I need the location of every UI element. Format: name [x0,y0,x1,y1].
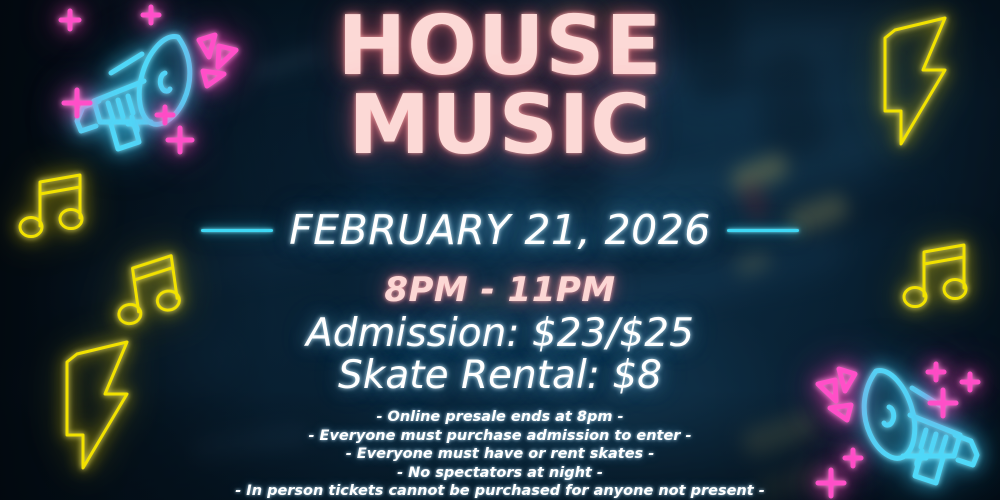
price-skate-rental: Skate Rental: $8 [0,355,1000,397]
price-admission: Admission: $23/$25 [0,313,1000,355]
poster-content: HOUSE MUSIC FEBRUARY 21, 2026 8PM - 11PM… [0,0,1000,500]
fineprint-line: - No spectators at night - [0,464,1000,483]
poster-title: HOUSE MUSIC [0,8,1000,164]
pricing-block: Admission: $23/$25 Skate Rental: $8 [0,313,1000,397]
divider-rule-left [201,229,273,232]
event-time: 8PM - 11PM [0,270,1000,310]
event-poster: HOUSE MUSIC FEBRUARY 21, 2026 8PM - 11PM… [0,0,1000,500]
fineprint-line: - In person tickets cannot be purchased … [0,482,1000,500]
title-line-music: MUSIC [0,87,1000,164]
title-line-house: HOUSE [0,8,1000,85]
event-date: FEBRUARY 21, 2026 [289,206,711,254]
fineprint-line: - Everyone must purchase admission to en… [0,427,1000,446]
fineprint-line: - Online presale ends at 8pm - [0,408,1000,427]
fineprint-block: - Online presale ends at 8pm - - Everyon… [0,408,1000,500]
fineprint-line: - Everyone must have or rent skates - [0,445,1000,464]
divider-rule-right [727,229,799,232]
event-date-row: FEBRUARY 21, 2026 [0,206,1000,254]
